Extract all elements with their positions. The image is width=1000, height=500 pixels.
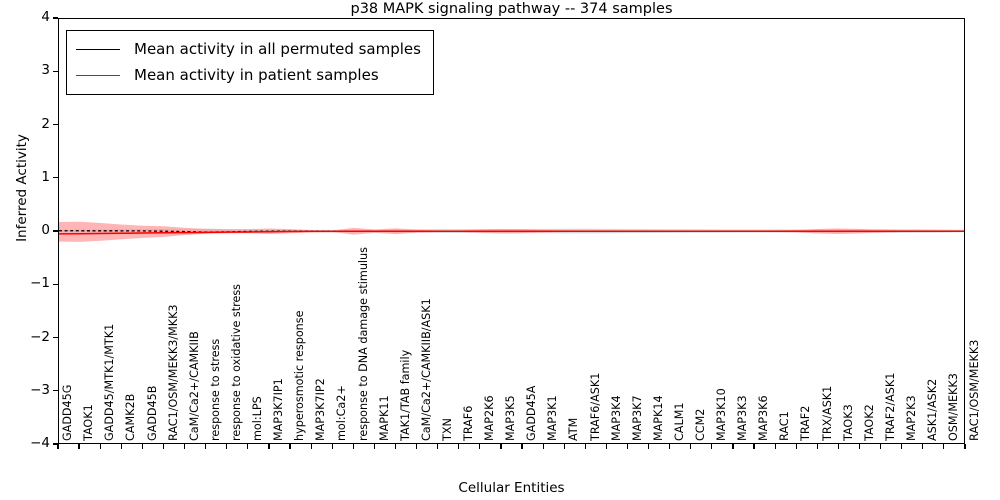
x-tick-mark — [901, 444, 902, 449]
x-tick-label: response to oxidative stress — [231, 284, 242, 441]
x-tick-label: TRAF6 — [463, 406, 474, 441]
x-tick-mark — [458, 444, 459, 449]
x-tick-mark — [711, 444, 712, 449]
x-tick-mark — [374, 444, 375, 449]
x-tick-label: CaM/Ca2+/CAMKIIB/ASK1 — [421, 298, 432, 441]
x-tick-mark — [648, 444, 649, 449]
y-tick-label: 2 — [8, 118, 50, 131]
x-tick-label: TAK1/TAB family — [400, 350, 411, 441]
legend-item: Mean activity in all permuted samples — [76, 36, 421, 62]
x-tick-label: response to stress — [210, 339, 221, 441]
x-tick-label: MAP3K5 — [505, 395, 516, 441]
x-tick-label: TXN — [442, 418, 453, 441]
x-tick-label: response to DNA damage stimulus — [358, 247, 369, 441]
y-tick-label: 3 — [8, 64, 50, 77]
x-tick-label: TRAF2 — [800, 406, 811, 441]
x-tick-mark — [142, 444, 143, 449]
y-tick-label: 0 — [8, 224, 50, 237]
x-tick-mark — [690, 444, 691, 449]
x-tick-label: GADD45B — [147, 386, 158, 441]
x-tick-mark — [289, 444, 290, 449]
x-tick-mark — [247, 444, 248, 449]
x-tick-label: MAP3K7 — [632, 395, 643, 441]
x-tick-mark — [817, 444, 818, 449]
x-tick-label: ASK1/ASK2 — [927, 379, 938, 441]
x-tick-mark — [416, 444, 417, 449]
x-tick-label: MAP3K4 — [611, 395, 622, 441]
x-tick-mark — [78, 444, 79, 449]
x-tick-mark — [964, 444, 965, 449]
x-tick-mark — [627, 444, 628, 449]
x-tick-label: MAP2K3 — [906, 395, 917, 441]
x-tick-mark — [479, 444, 480, 449]
x-tick-label: RAC1 — [779, 411, 790, 441]
x-tick-mark — [163, 444, 164, 449]
x-tick-label: ATM — [568, 418, 579, 441]
x-tick-label: MAP3K6 — [758, 395, 769, 441]
x-tick-mark — [922, 444, 923, 449]
legend-swatch-patient — [76, 75, 120, 76]
x-tick-label: TAOK2 — [864, 404, 875, 441]
x-tick-mark — [311, 444, 312, 449]
x-tick-label: MAP3K3 — [737, 395, 748, 441]
y-tick-label: 4 — [8, 11, 50, 24]
legend-label-patient: Mean activity in patient samples — [134, 66, 379, 84]
x-axis-label: Cellular Entities — [58, 480, 965, 496]
x-tick-label: TAOK3 — [843, 404, 854, 441]
x-tick-mark — [564, 444, 565, 449]
x-tick-mark — [395, 444, 396, 449]
y-tick-label: −2 — [8, 331, 50, 344]
x-tick-label: mol:LPS — [252, 396, 263, 441]
x-tick-mark — [205, 444, 206, 449]
chart-legend: Mean activity in all permuted samples Me… — [66, 30, 434, 95]
x-tick-label: RAC1/OSM/MEKK3 — [969, 340, 980, 441]
x-tick-label: MAPK11 — [379, 395, 390, 441]
x-tick-label: MAPK14 — [653, 395, 664, 441]
x-tick-mark — [775, 444, 776, 449]
y-tick-label: −4 — [8, 437, 50, 450]
y-tick-label: −1 — [8, 277, 50, 290]
x-tick-label: CCM2 — [695, 409, 706, 441]
x-tick-label: TRX/ASK1 — [822, 386, 833, 441]
x-tick-label: CaM/Ca2+/CAMKIIB — [189, 331, 200, 441]
x-tick-mark — [585, 444, 586, 449]
x-tick-mark — [353, 444, 354, 449]
x-tick-mark — [669, 444, 670, 449]
x-tick-mark — [543, 444, 544, 449]
legend-item: Mean activity in patient samples — [76, 62, 421, 88]
x-tick-label: MAP3K1 — [547, 395, 558, 441]
x-tick-label: OSM/MEKK3 — [948, 373, 959, 441]
x-tick-mark — [500, 444, 501, 449]
x-tick-mark — [521, 444, 522, 449]
x-tick-label: mol:Ca2+ — [336, 385, 347, 441]
x-tick-mark — [796, 444, 797, 449]
x-tick-label: TRAF2/ASK1 — [885, 373, 896, 441]
x-tick-mark — [838, 444, 839, 449]
x-tick-label: MAP2K6 — [484, 395, 495, 441]
x-tick-mark — [184, 444, 185, 449]
x-tick-label: TAOK1 — [83, 404, 94, 441]
x-tick-mark — [943, 444, 944, 449]
chart-figure: p38 MAPK signaling pathway -- 374 sample… — [0, 0, 1000, 500]
x-tick-mark — [332, 444, 333, 449]
x-tick-label: MAP3K10 — [716, 388, 727, 441]
x-tick-label: RAC1/OSM/MEKK3/MKK3 — [168, 304, 179, 441]
x-tick-label: TRAF6/ASK1 — [590, 373, 601, 441]
x-tick-mark — [121, 444, 122, 449]
x-tick-label: GADD45A — [526, 386, 537, 441]
x-tick-mark — [268, 444, 269, 449]
page-title: p38 MAPK signaling pathway -- 374 sample… — [58, 0, 965, 18]
x-tick-mark — [753, 444, 754, 449]
x-tick-mark — [606, 444, 607, 449]
x-tick-label: MAP3K7IP2 — [315, 378, 326, 441]
x-tick-mark — [57, 444, 58, 449]
y-tick-label: 1 — [8, 171, 50, 184]
legend-label-permuted: Mean activity in all permuted samples — [134, 40, 421, 58]
x-tick-label: GADD45G — [62, 385, 73, 441]
x-tick-mark — [880, 444, 881, 449]
x-tick-label: MAP3K7IP1 — [273, 378, 284, 441]
x-tick-mark — [859, 444, 860, 449]
y-tick-label: −3 — [8, 384, 50, 397]
x-tick-mark — [437, 444, 438, 449]
x-tick-label: CAMK2B — [125, 394, 136, 441]
x-tick-label: hyperosmotic response — [294, 311, 305, 441]
x-tick-label: GADD45/MTK1/MTK1 — [104, 324, 115, 441]
legend-swatch-permuted — [76, 49, 120, 50]
x-tick-mark — [100, 444, 101, 449]
x-tick-label: CALM1 — [674, 403, 685, 441]
x-tick-mark — [226, 444, 227, 449]
x-tick-mark — [732, 444, 733, 449]
